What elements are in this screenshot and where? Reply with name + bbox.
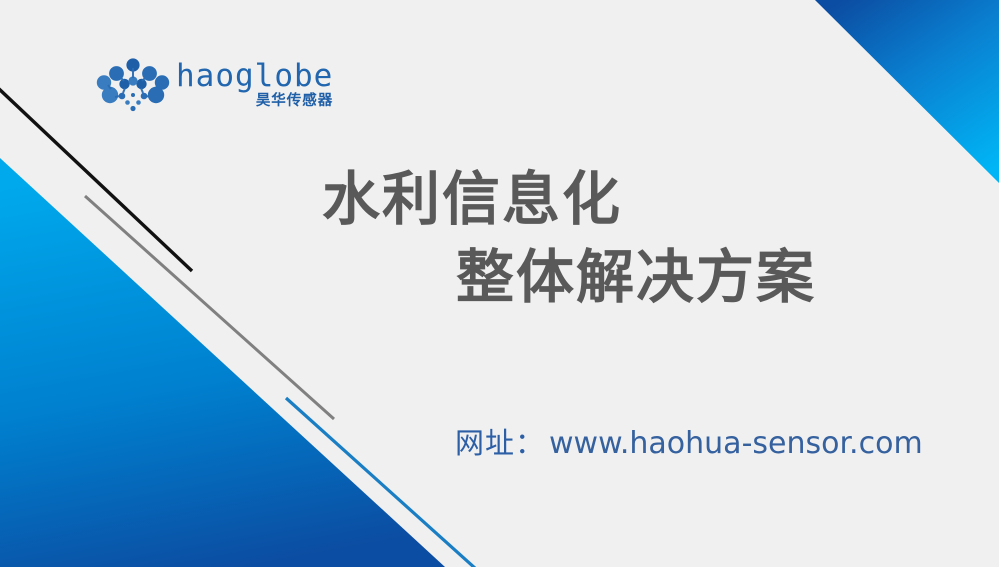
website-line: 网址： www.haohua-sensor.com: [455, 420, 923, 462]
website-url[interactable]: www.haohua-sensor.com: [549, 426, 923, 461]
logo-subtitle: 昊华传感器: [256, 93, 334, 109]
page-title-line-1: 水利信息化: [322, 160, 880, 238]
logo-text: haoglobe 昊华传感器: [176, 60, 333, 109]
logo-wordmark: haoglobe: [176, 60, 333, 92]
company-logo[interactable]: haoglobe 昊华传感器: [96, 58, 326, 120]
page-title-line-2: 整体解决方案: [456, 238, 880, 316]
website-label: 网址：: [455, 420, 545, 462]
molecular-network-mark-icon: [96, 58, 170, 116]
page-title: 水利信息化 整体解决方案: [0, 160, 880, 316]
title-slide: haoglobe 昊华传感器 水利信息化 整体解决方案 网址： www.haoh…: [0, 0, 999, 567]
